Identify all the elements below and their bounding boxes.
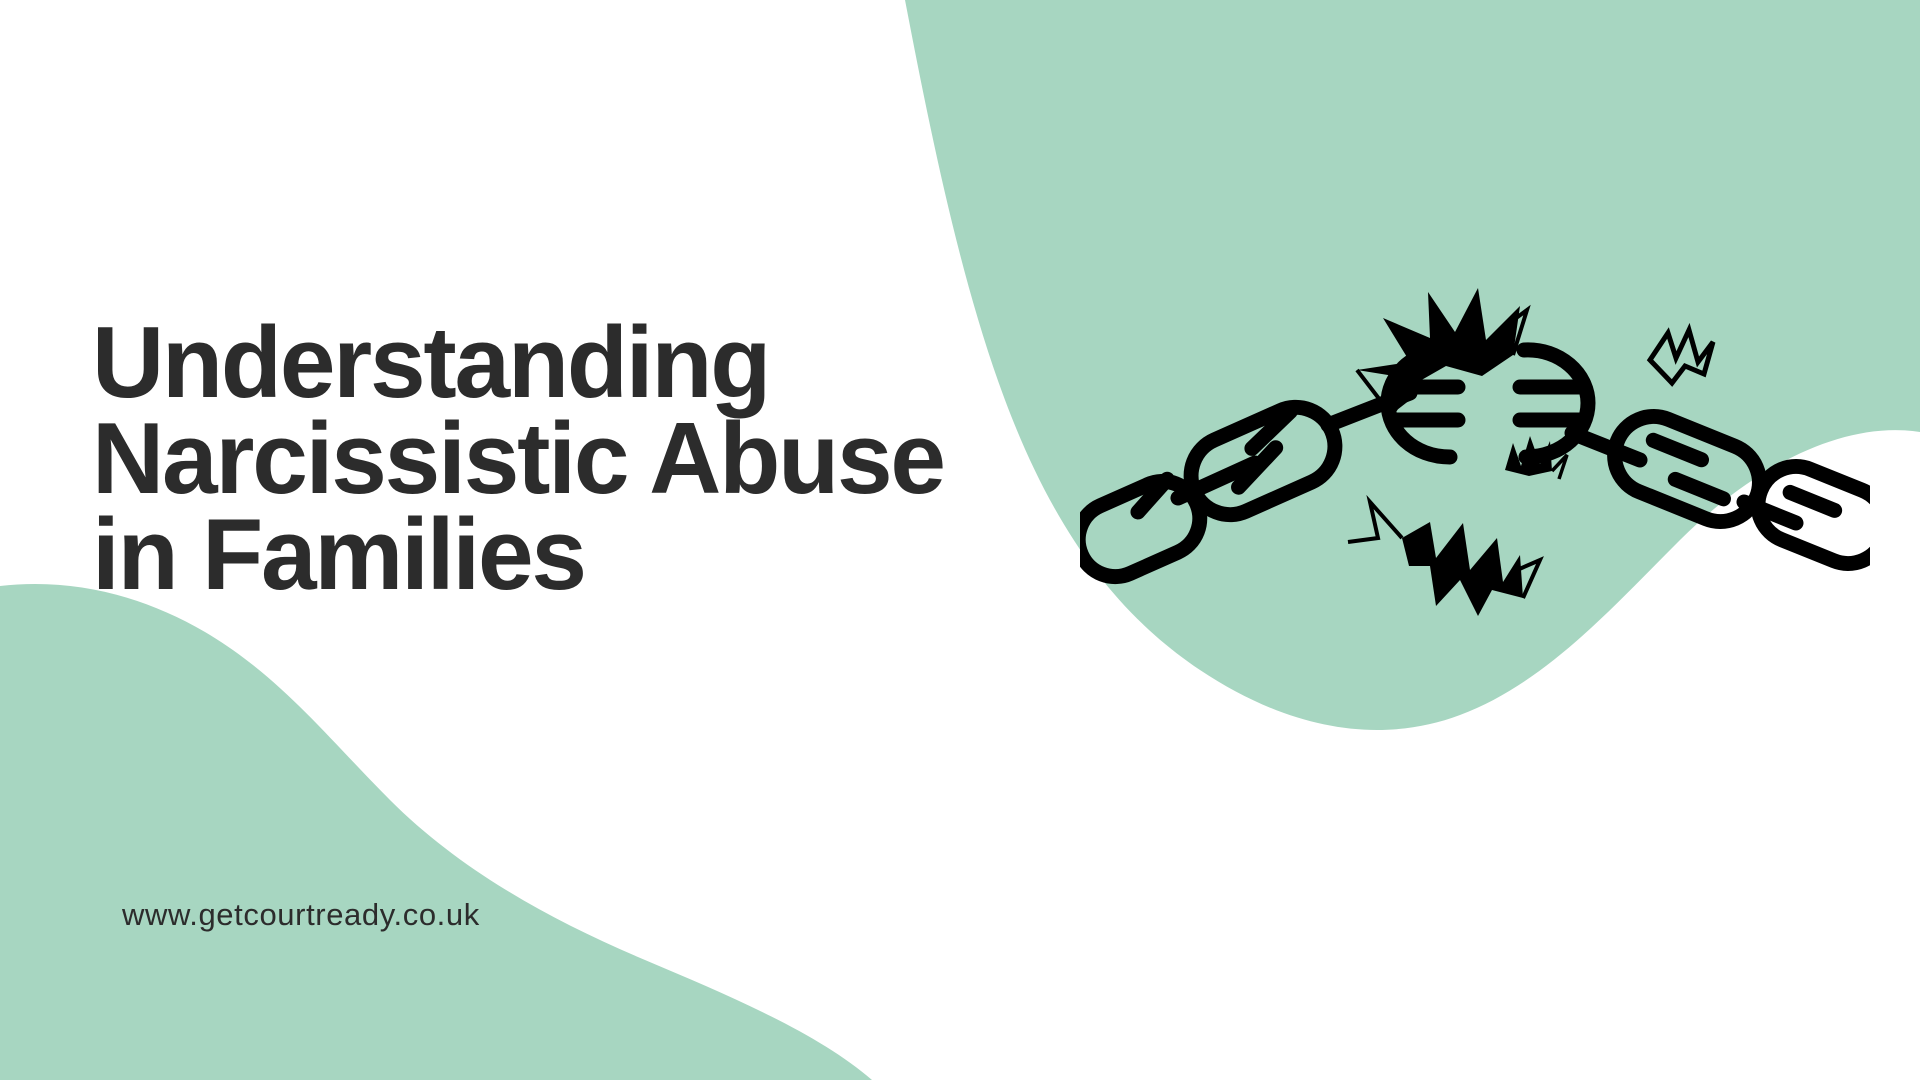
website-url[interactable]: www.getcourtready.co.uk xyxy=(122,897,480,933)
title-line-2: Narcissistic Abuse xyxy=(92,411,1141,507)
impact-burst-group xyxy=(1348,288,1713,616)
chain-link-5 xyxy=(1747,455,1870,575)
slide-canvas: Understanding Narcissistic Abuse in Fami… xyxy=(0,0,1920,1080)
page-title: Understanding Narcissistic Abuse in Fami… xyxy=(92,315,1152,603)
title-line-1: Understanding xyxy=(92,315,1141,411)
chain-link-2 xyxy=(1179,395,1348,527)
burst-spark-lower xyxy=(1402,522,1523,616)
chain-link-4 xyxy=(1603,405,1771,534)
chain-connector-3 xyxy=(1572,433,1640,460)
broken-chain-illustration xyxy=(1080,270,1870,670)
burst-spark-upper-right xyxy=(1650,330,1713,383)
title-line-3: in Families xyxy=(92,507,1141,603)
burst-spark-small-center xyxy=(1505,436,1552,476)
burst-spark-lower-tail xyxy=(1348,502,1402,542)
bottom-left-green-blob xyxy=(0,584,872,1080)
